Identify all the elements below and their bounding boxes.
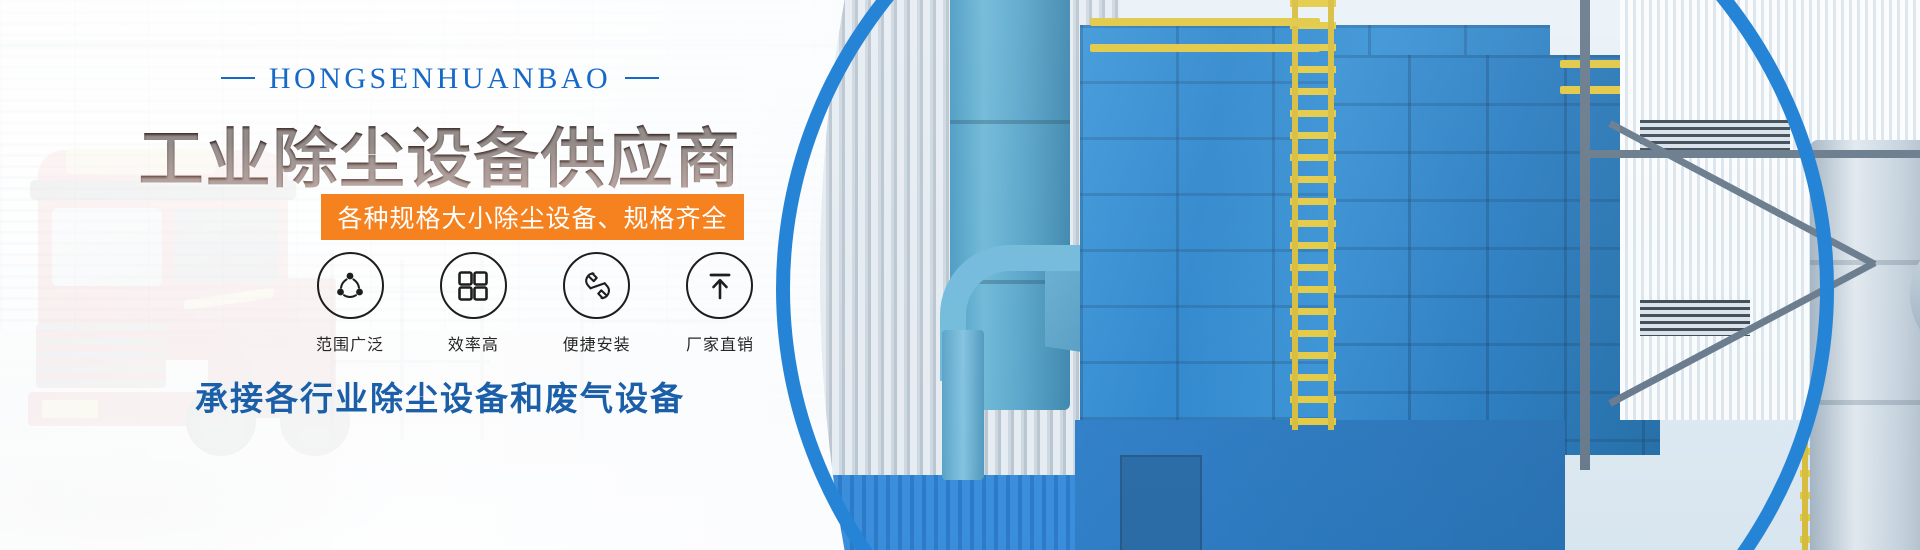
share-nodes-icon — [317, 252, 384, 319]
photo-color-tone — [790, 0, 1920, 550]
eyebrow-dash-left — [221, 77, 255, 79]
eyebrow-dash-right — [625, 77, 659, 79]
page-title: 工业除尘设备供应商 — [0, 106, 880, 200]
feature-item-direct-sales[interactable]: 厂家直销 — [670, 252, 770, 355]
grid-four-squares-icon — [440, 252, 507, 319]
hero-tagline: 承接各行业除尘设备和废气设备 — [0, 372, 880, 420]
wrench-icon — [563, 252, 630, 319]
feature-item-efficiency[interactable]: 效率高 — [423, 252, 523, 355]
brand-pinyin-eyebrow: HONGSENHUANBAO — [0, 62, 880, 96]
feature-label: 便捷安装 — [563, 331, 631, 355]
eyebrow-text: HONGSENHUANBAO — [269, 62, 611, 95]
feature-item-scope[interactable]: 范围广泛 — [300, 252, 400, 355]
feature-label: 厂家直销 — [686, 331, 754, 355]
hero-banner: HONGSENHUANBAO 工业除尘设备供应商 各种规格大小除尘设备、规格齐全 — [0, 0, 1920, 550]
feature-item-installation[interactable]: 便捷安装 — [547, 252, 647, 355]
feature-list: 范围广泛 效率高 — [300, 252, 770, 355]
hero-content: HONGSENHUANBAO 工业除尘设备供应商 各种规格大小除尘设备、规格齐全 — [0, 0, 880, 550]
subtitle-orange-bar: 各种规格大小除尘设备、规格齐全 — [321, 194, 744, 240]
subtitle-text: 各种规格大小除尘设备、规格齐全 — [337, 199, 727, 235]
feature-label: 效率高 — [448, 331, 499, 355]
right-factory-photo — [790, 0, 1920, 550]
arrow-up-bar-icon — [686, 252, 753, 319]
feature-label: 范围广泛 — [316, 331, 384, 355]
